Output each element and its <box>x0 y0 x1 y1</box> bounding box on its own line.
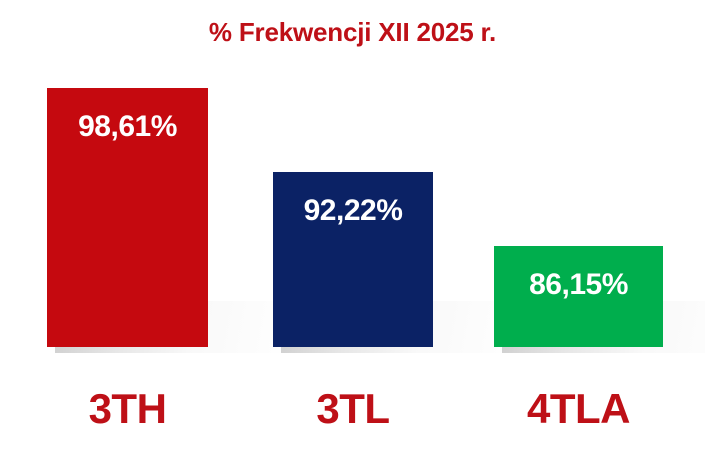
bar-value-label-4tla: 86,15% <box>494 268 663 302</box>
bar-value-label-3th: 98,61% <box>47 110 208 144</box>
bar-value-label-3tl: 92,22% <box>273 194 433 228</box>
bar-3tl[interactable]: 92,22% <box>273 172 433 347</box>
bar-3th[interactable]: 98,61% <box>47 88 208 347</box>
bar-4tla[interactable]: 86,15% <box>494 246 663 347</box>
category-label-3tl: 3TL <box>273 385 433 433</box>
category-label-4tla: 4TLA <box>494 385 663 433</box>
plot-area: 98,61% 92,22% 86,15% 3TH 3TL 4TLA <box>0 0 705 459</box>
category-label-3th: 3TH <box>47 385 208 433</box>
chart-root: % Frekwencji XII 2025 r. 98,61% 92,22% 8… <box>0 0 705 459</box>
